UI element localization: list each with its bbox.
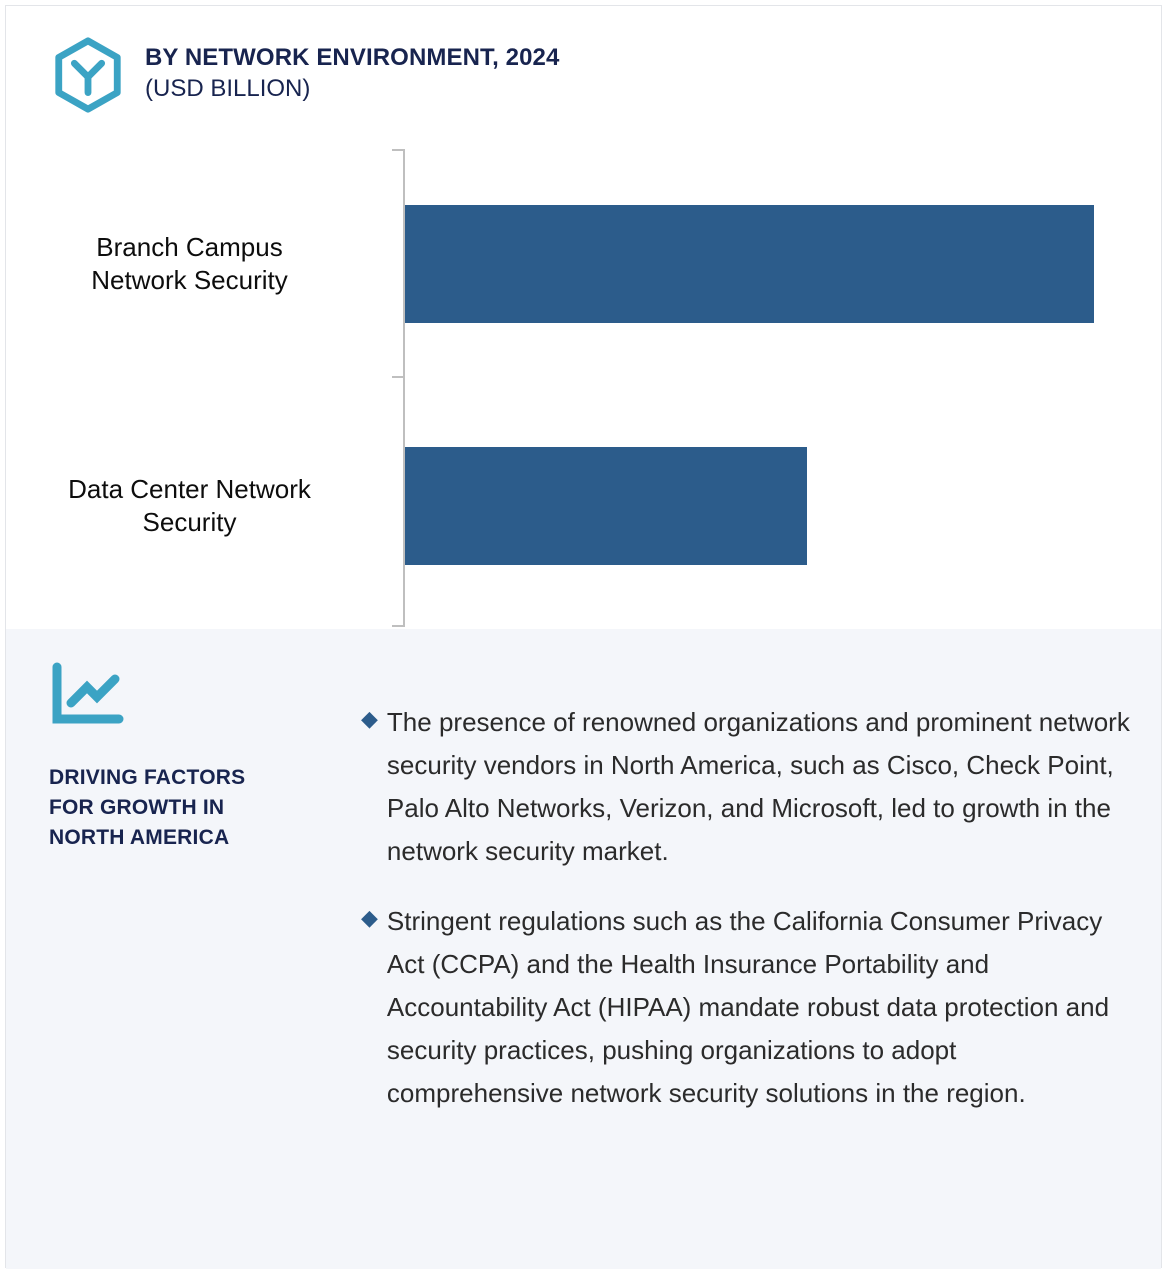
bar-row: Data Center Network Security [6, 436, 1161, 576]
driving-factors-panel: DRIVING FACTORS FOR GROWTH IN NORTH AMER… [6, 629, 1161, 1269]
category-label-line: Security [6, 506, 373, 539]
heading-line: FOR GROWTH IN [49, 793, 349, 823]
page-title: BY NETWORK ENVIRONMENT, 2024 [145, 44, 559, 72]
bar-data-center-network-security [405, 447, 807, 565]
page-subtitle: (USD BILLION) [145, 75, 559, 104]
driving-factors-heading-block: DRIVING FACTORS FOR GROWTH IN NORTH AMER… [49, 661, 349, 852]
list-item: ◆ Stringent regulations such as the Cali… [361, 900, 1131, 1116]
bar-branch-campus-network-security [405, 205, 1094, 323]
category-label-line: Network Security [6, 264, 373, 297]
driving-factors-title: DRIVING FACTORS FOR GROWTH IN NORTH AMER… [49, 763, 349, 852]
line-chart-trend-icon [49, 661, 349, 727]
list-item-text: Stringent regulations such as the Califo… [387, 900, 1131, 1116]
bar-row: Branch Campus Network Security [6, 194, 1161, 334]
driving-factors-list: ◆ The presence of renowned organizations… [361, 701, 1131, 1115]
axis-tick-bottom [392, 625, 404, 627]
category-label: Data Center Network Security [6, 473, 381, 540]
header-text-block: BY NETWORK ENVIRONMENT, 2024 (USD BILLIO… [145, 34, 559, 104]
diamond-bullet-icon: ◆ [361, 902, 378, 934]
heading-line: NORTH AMERICA [49, 823, 349, 853]
infographic-card: BY NETWORK ENVIRONMENT, 2024 (USD BILLIO… [5, 5, 1162, 1268]
diamond-bullet-icon: ◆ [361, 703, 378, 735]
bar-track [405, 447, 1161, 565]
chart-panel: BY NETWORK ENVIRONMENT, 2024 (USD BILLIO… [6, 6, 1161, 629]
axis-tick-top [392, 149, 404, 151]
heading-line: DRIVING FACTORS [49, 763, 349, 793]
category-label-line: Branch Campus [6, 231, 373, 264]
chart-header: BY NETWORK ENVIRONMENT, 2024 (USD BILLIO… [49, 34, 559, 114]
list-item: ◆ The presence of renowned organizations… [361, 701, 1131, 874]
category-label: Branch Campus Network Security [6, 231, 381, 298]
hexagon-y-icon [49, 36, 127, 114]
list-item-text: The presence of renowned organizations a… [387, 701, 1131, 874]
bar-chart: Branch Campus Network Security Data Cent… [6, 146, 1161, 629]
bar-track [405, 205, 1161, 323]
axis-tick-middle [392, 376, 404, 378]
category-label-line: Data Center Network [6, 473, 373, 506]
